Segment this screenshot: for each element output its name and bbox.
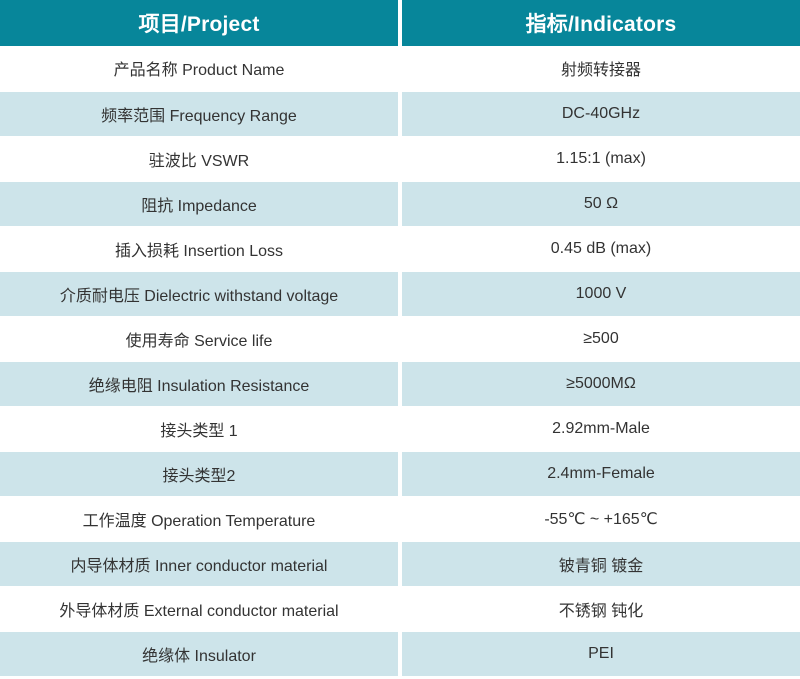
cell-indicator: DC-40GHz [400,91,800,136]
table-row: 外导体材质 External conductor material不锈钢 钝化 [0,586,800,631]
cell-indicator: 不锈钢 钝化 [400,586,800,631]
cell-project: 插入损耗 Insertion Loss [0,226,400,271]
table-row: 绝缘电阻 Insulation Resistance≥5000MΩ [0,361,800,406]
specifications-table: 项目/Project 指标/Indicators 产品名称 Product Na… [0,0,800,677]
cell-project: 接头类型2 [0,451,400,496]
cell-indicator: PEI [400,631,800,676]
cell-project: 内导体材质 Inner conductor material [0,541,400,586]
cell-indicator: ≥5000MΩ [400,361,800,406]
cell-indicator: 50 Ω [400,181,800,226]
table-body: 产品名称 Product Name射频转接器频率范围 Frequency Ran… [0,46,800,676]
cell-project: 接头类型 1 [0,406,400,451]
cell-indicator: 1000 V [400,271,800,316]
table-header: 项目/Project 指标/Indicators [0,0,800,46]
table-header-row: 项目/Project 指标/Indicators [0,0,800,46]
table-row: 插入损耗 Insertion Loss0.45 dB (max) [0,226,800,271]
cell-indicator: -55℃ ~ +165℃ [400,496,800,541]
cell-project: 外导体材质 External conductor material [0,586,400,631]
table-row: 阻抗 Impedance50 Ω [0,181,800,226]
table-row: 产品名称 Product Name射频转接器 [0,46,800,91]
table-row: 内导体材质 Inner conductor material铍青铜 镀金 [0,541,800,586]
table-row: 驻波比 VSWR1.15:1 (max) [0,136,800,181]
cell-indicator: 射频转接器 [400,46,800,91]
cell-project: 使用寿命 Service life [0,316,400,361]
cell-project: 阻抗 Impedance [0,181,400,226]
table-row: 频率范围 Frequency RangeDC-40GHz [0,91,800,136]
cell-indicator: 铍青铜 镀金 [400,541,800,586]
cell-project: 产品名称 Product Name [0,46,400,91]
column-header-project: 项目/Project [0,0,400,46]
cell-indicator: 1.15:1 (max) [400,136,800,181]
table-row: 使用寿命 Service life≥500 [0,316,800,361]
column-header-indicator: 指标/Indicators [400,0,800,46]
cell-indicator: 2.92mm-Male [400,406,800,451]
cell-indicator: 0.45 dB (max) [400,226,800,271]
table-row: 接头类型22.4mm-Female [0,451,800,496]
cell-project: 绝缘体 Insulator [0,631,400,676]
cell-indicator: 2.4mm-Female [400,451,800,496]
cell-project: 频率范围 Frequency Range [0,91,400,136]
cell-project: 介质耐电压 Dielectric withstand voltage [0,271,400,316]
table-row: 绝缘体 InsulatorPEI [0,631,800,676]
cell-project: 工作温度 Operation Temperature [0,496,400,541]
cell-project: 绝缘电阻 Insulation Resistance [0,361,400,406]
table-row: 工作温度 Operation Temperature-55℃ ~ +165℃ [0,496,800,541]
cell-indicator: ≥500 [400,316,800,361]
table-row: 介质耐电压 Dielectric withstand voltage1000 V [0,271,800,316]
table-row: 接头类型 12.92mm-Male [0,406,800,451]
cell-project: 驻波比 VSWR [0,136,400,181]
